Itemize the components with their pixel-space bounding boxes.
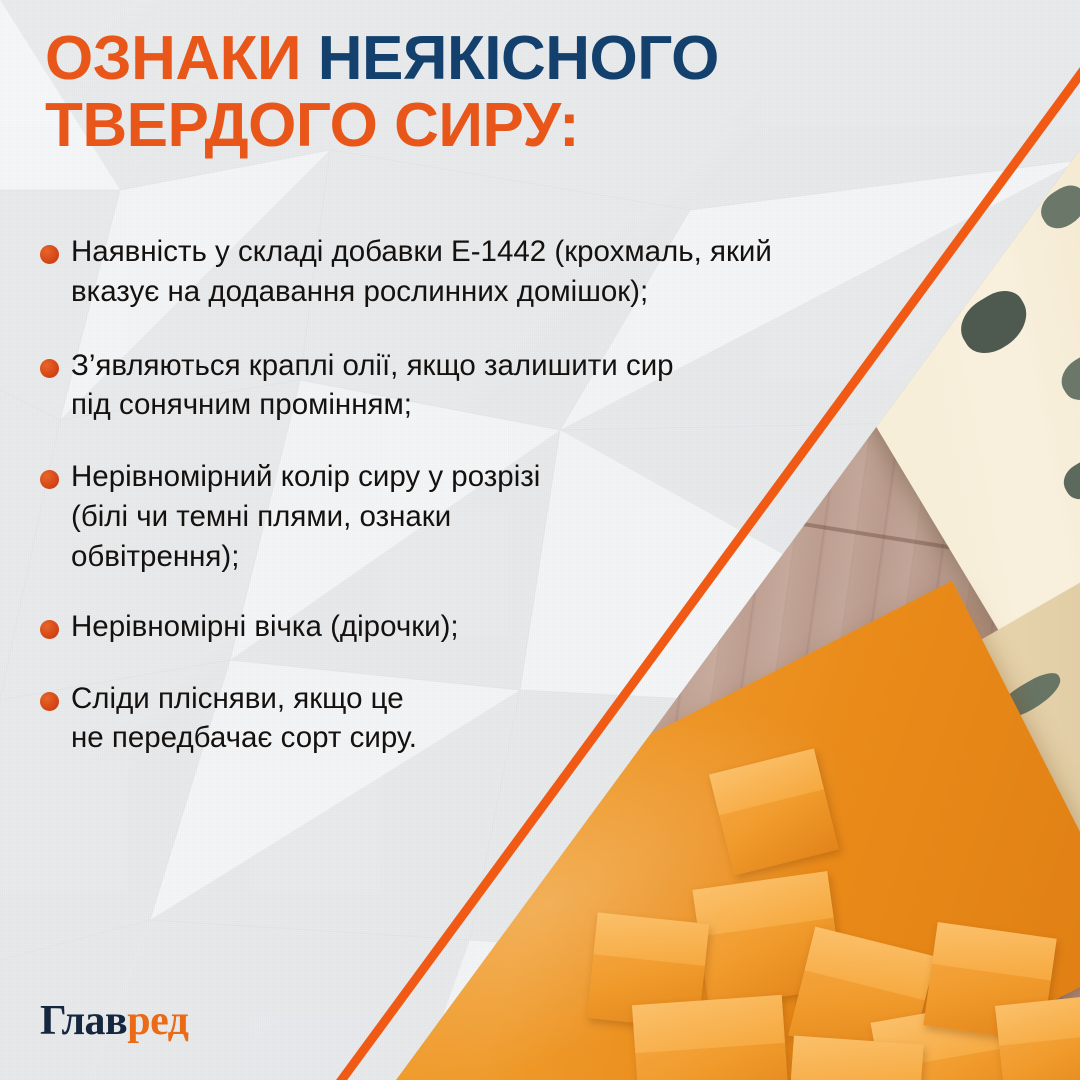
list-item: З’являються краплі олії, якщо залишити с… — [40, 346, 980, 426]
list-item-text: Наявність у складі добавки Е-1442 (крохм… — [71, 232, 772, 312]
list-item-line: З’являються краплі олії, якщо залишити с… — [71, 346, 674, 386]
cheddar-cube — [632, 995, 790, 1080]
list-item-line: під сонячним промінням; — [71, 385, 674, 425]
list-item-line: Наявність у складі добавки Е-1442 (крохм… — [71, 232, 772, 272]
list-item-line: обвітрення); — [71, 537, 540, 577]
title-line-tverdoho-syru: ТВЕРДОГО СИРУ: — [45, 91, 579, 160]
infographic-poster: ОЗНАКИ НЕЯКІСНОГО ТВЕРДОГО СИРУ: Наявніс… — [0, 0, 1080, 1080]
title-word-neyakisnoho: НЕЯКІСНОГО — [318, 24, 719, 93]
glavred-logo[interactable]: Главред — [40, 1000, 188, 1042]
list-item-line: вказує на додавання рослинних домішок); — [71, 272, 772, 312]
list-item: Нерівномірні вічка (дірочки); — [40, 607, 980, 647]
list-item-line: Сліди плісняви, якщо це — [71, 679, 417, 719]
list-item-line: Нерівномірний колір сиру у розрізі — [71, 457, 540, 497]
list-item-line: не передбачає сорт сиру. — [71, 718, 417, 758]
bullet-dot-icon — [40, 359, 59, 378]
list-item-text: Сліди плісняви, якщо це не передбачає со… — [71, 679, 417, 759]
list-item: Наявність у складі добавки Е-1442 (крохм… — [40, 232, 980, 312]
logo-text-glav: Глав — [40, 998, 127, 1044]
list-item-text: Нерівномірний колір сиру у розрізі (білі… — [71, 457, 540, 576]
signs-list: Наявність у складі добавки Е-1442 (крохм… — [40, 232, 980, 788]
list-item: Сліди плісняви, якщо це не передбачає со… — [40, 679, 980, 759]
logo-text-red: ред — [127, 998, 188, 1044]
list-item-line: (білі чи темні плями, ознаки — [71, 497, 540, 537]
bullet-dot-icon — [40, 692, 59, 711]
bullet-dot-icon — [40, 245, 59, 264]
bullet-dot-icon — [40, 470, 59, 489]
page-title: ОЗНАКИ НЕЯКІСНОГО ТВЕРДОГО СИРУ: — [45, 26, 945, 160]
list-item-text: З’являються краплі олії, якщо залишити с… — [71, 346, 674, 426]
list-item-text: Нерівномірні вічка (дірочки); — [71, 607, 459, 647]
cheddar-cube — [995, 995, 1080, 1080]
list-item-line: Нерівномірні вічка (дірочки); — [71, 607, 459, 647]
title-word-oznaky: ОЗНАКИ — [45, 24, 318, 93]
list-item: Нерівномірний колір сиру у розрізі (білі… — [40, 457, 980, 576]
cheddar-cube — [786, 1036, 923, 1080]
bullet-dot-icon — [40, 620, 59, 639]
